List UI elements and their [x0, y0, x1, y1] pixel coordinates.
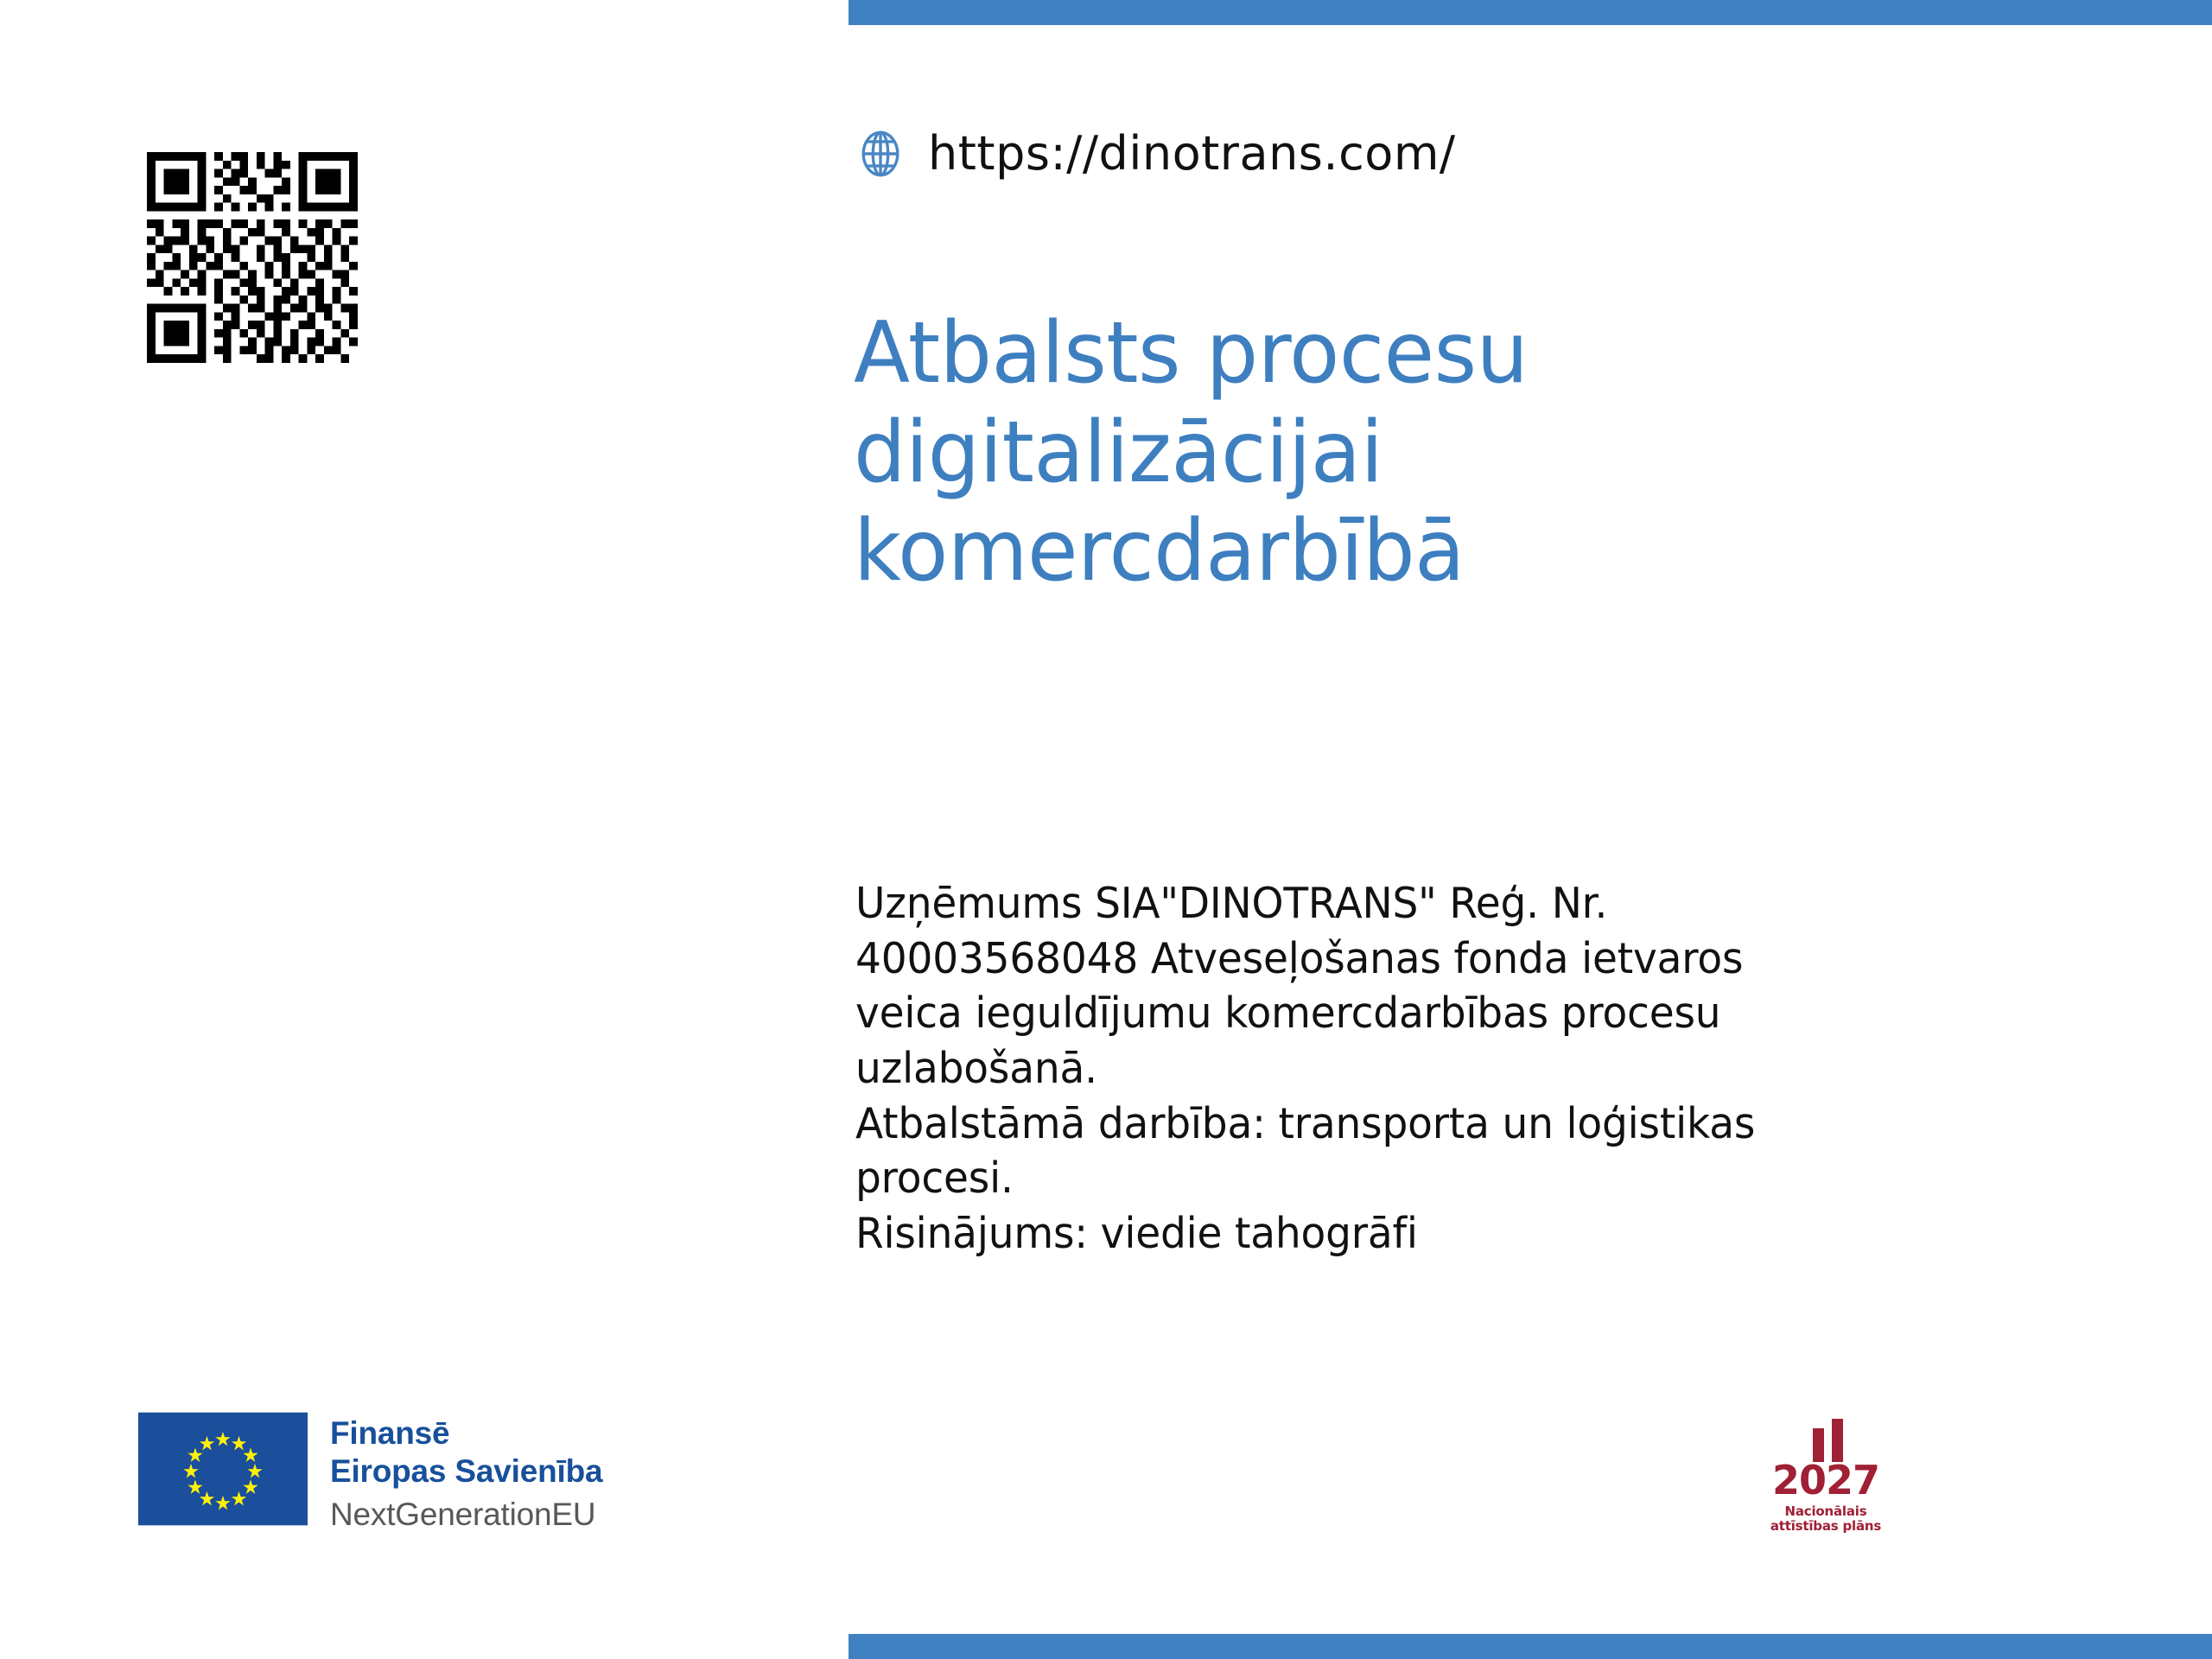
qr-code-icon: [147, 152, 358, 363]
nap-bars-icon: [1773, 1419, 1882, 1462]
top-blue-bar: [849, 0, 2212, 25]
eu-funding-line-1: Finansē: [330, 1417, 602, 1449]
nap-subtitle: Nacionālais attīstības plāns: [1770, 1504, 1882, 1534]
eu-funding-text: Finansē Eiropas Savienība NextGeneration…: [330, 1412, 602, 1530]
nap-subtitle-line-2: attīstības plāns: [1770, 1519, 1882, 1534]
eu-flag-icon: [138, 1412, 308, 1526]
nap-2027-logo: 2027 Nacionālais attīstības plāns: [1770, 1419, 1882, 1534]
eu-funding-logo: Finansē Eiropas Savienība NextGeneration…: [138, 1412, 602, 1530]
nap-bar-right: [1832, 1419, 1843, 1462]
page-title: Atbalsts procesu digitalizācijai komercd…: [854, 304, 1792, 601]
description-paragraph-2: Atbalstāmā darbība: transporta un loģist…: [855, 1096, 1834, 1206]
website-link[interactable]: https://dinotrans.com/: [855, 126, 1456, 181]
nap-year: 2027: [1770, 1460, 1882, 1500]
website-url-text[interactable]: https://dinotrans.com/: [928, 126, 1456, 181]
description-paragraph-1: Uzņēmums SIA"DINOTRANS" Reģ. Nr. 4000356…: [855, 876, 1834, 1096]
eu-funding-line-2: Eiropas Savienība: [330, 1455, 602, 1487]
eu-funding-line-3: NextGenerationEU: [330, 1498, 602, 1530]
globe-icon: [855, 129, 906, 179]
bottom-blue-bar: [849, 1634, 2212, 1659]
qr-code[interactable]: [147, 152, 358, 363]
nap-subtitle-line-1: Nacionālais: [1770, 1504, 1882, 1519]
description-text: Uzņēmums SIA"DINOTRANS" Reģ. Nr. 4000356…: [855, 876, 1834, 1262]
description-paragraph-3: Risinājums: viedie tahogrāfi: [855, 1206, 1834, 1262]
